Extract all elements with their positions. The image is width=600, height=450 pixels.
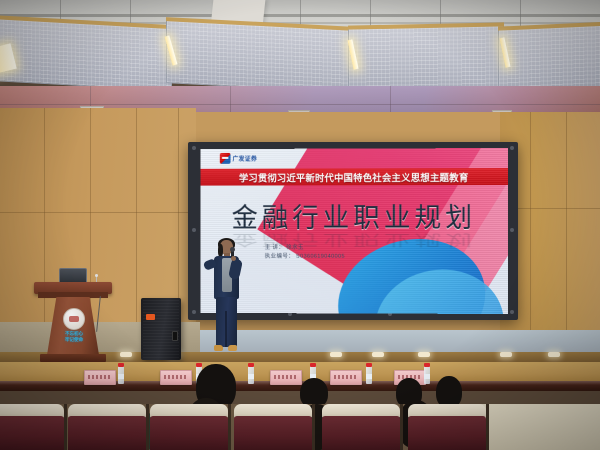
water-bottle: [248, 366, 254, 384]
acoustic-panel: [498, 23, 600, 92]
water-bottle: [424, 366, 430, 384]
lower-right-wall: [474, 404, 600, 450]
jbl-logo-icon: [146, 314, 155, 320]
slide-license-line: 执业编号： S0360619040005: [265, 252, 345, 261]
water-bottle: [366, 366, 372, 384]
name-placard: [84, 370, 116, 385]
slide-metadata: 主 讲： 徐水玉 执业编号： S0360619040005: [265, 244, 345, 261]
acoustic-panel: [0, 17, 172, 91]
audience-seat: [408, 404, 486, 450]
podium: 不忘初心 牢记使命: [34, 268, 112, 364]
audience-seat: [234, 404, 312, 450]
podium-slogan: 不忘初心 牢记使命: [54, 331, 94, 344]
acoustic-panel: [348, 24, 504, 91]
conference-hall-photo: 广发证券 学习贯彻习近平新时代中国特色社会主义思想主题教育 金融行业职业规划 金…: [0, 0, 600, 450]
water-bottle: [118, 366, 124, 384]
name-placard: [330, 370, 362, 385]
logo-mark-icon: [220, 153, 231, 164]
floor-monitor-speaker: [141, 298, 181, 360]
audience-seat: [322, 404, 400, 450]
presenter: [204, 240, 248, 358]
slide-banner-text: 学习贯彻习近平新时代中国特色社会主义思想主题教育: [239, 170, 469, 184]
name-placard: [160, 370, 192, 385]
slide-banner: 学习贯彻习近平新时代中国特色社会主义思想主题教育: [200, 168, 508, 186]
acoustic-panel: [166, 19, 354, 93]
audience-seat: [150, 404, 228, 450]
logo-text: 广发证券: [232, 154, 257, 163]
audience-seat: [68, 404, 146, 450]
podium-cable: [96, 296, 101, 332]
gf-securities-logo-icon: 广发证券: [220, 153, 257, 164]
slide-presenter-line: 主 讲： 徐水玉: [265, 244, 345, 253]
name-placard: [270, 370, 302, 385]
audience-seat: [0, 404, 64, 450]
podium-crest-icon: [63, 308, 85, 330]
